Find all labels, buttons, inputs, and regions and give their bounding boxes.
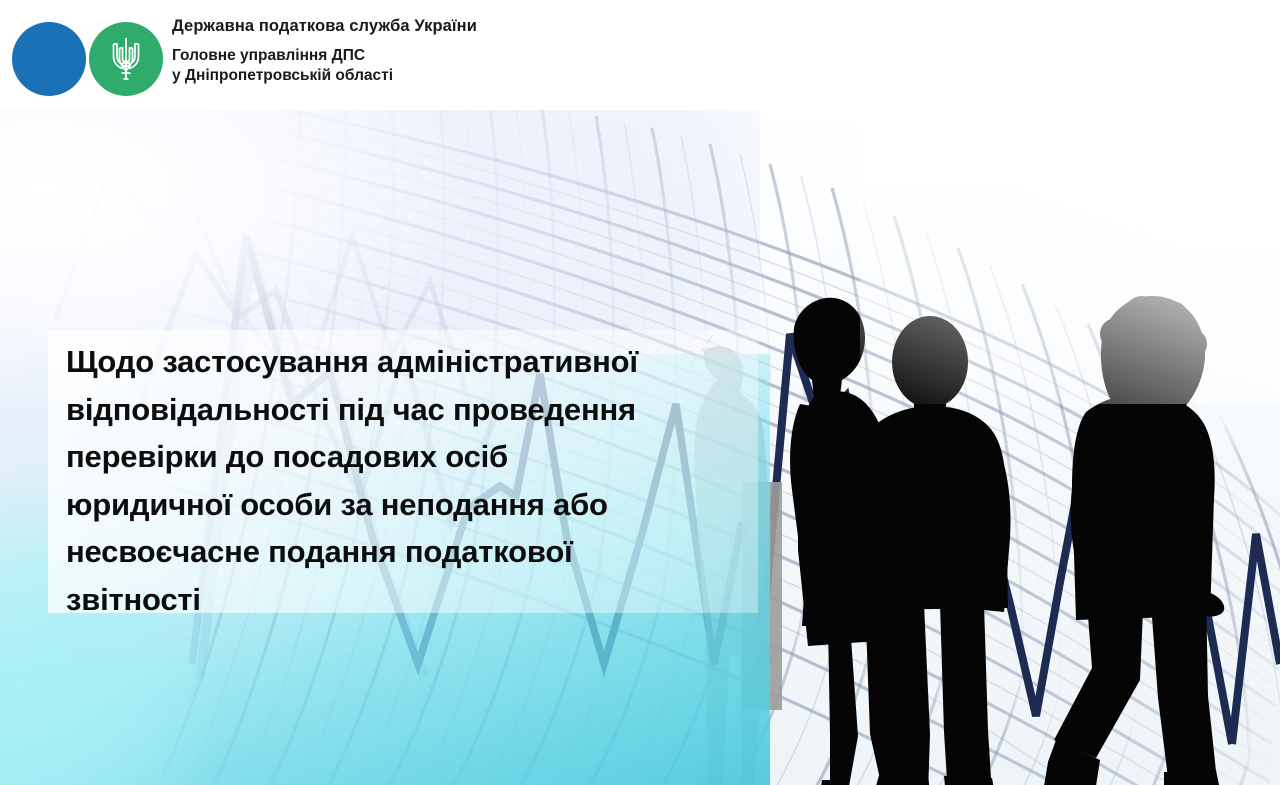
- headline-line-5: несвоєчасне подання податкової: [66, 528, 758, 576]
- headline-card: Щодо застосування адміністративної відпо…: [48, 330, 758, 613]
- page-title: Щодо застосування адміністративної відпо…: [66, 338, 758, 623]
- logo: [10, 20, 170, 98]
- organization-title: Державна податкова служба України: [172, 16, 872, 36]
- headline-line-4: юридичної особи за неподання або: [66, 481, 758, 529]
- banner-image: Щодо застосування адміністративної відпо…: [0, 0, 1280, 785]
- headline-line-3: перевірки до посадових осіб: [66, 433, 758, 481]
- department-line-1: Головне управління ДПС: [172, 46, 872, 66]
- department-name: Головне управління ДПС у Дніпропетровськ…: [172, 46, 872, 86]
- trident-icon: [111, 36, 141, 82]
- headline-line-1: Щодо застосування адміністративної: [66, 338, 758, 386]
- department-line-2: у Дніпропетровській області: [172, 66, 872, 86]
- header-text-block: Державна податкова служба України Головн…: [172, 16, 872, 86]
- site-header: Державна податкова служба України Головн…: [0, 0, 1280, 110]
- headline-line-6: звітності: [66, 576, 758, 624]
- headline-line-2: відповідальності під час проведення: [66, 386, 758, 434]
- logo-blue-circle-icon: [12, 22, 86, 96]
